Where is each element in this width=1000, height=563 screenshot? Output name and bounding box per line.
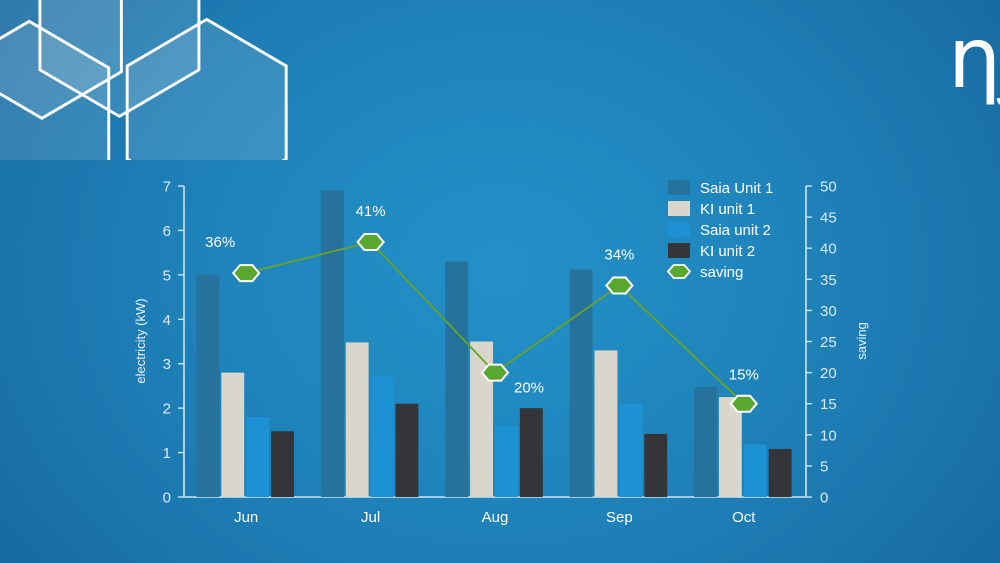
left-tick-label: 5 [163,267,171,284]
bar [271,431,294,497]
left-tick-label: 2 [163,401,171,418]
bar [346,342,369,497]
left-tick-label: 3 [163,356,171,373]
bar [395,404,418,497]
right-tick-label: 40 [820,241,837,258]
right-tick-label: 20 [820,365,837,382]
right-tick-label: 25 [820,334,837,351]
bar [769,449,792,497]
data-label: 41% [356,203,386,220]
bar [445,262,468,497]
data-label: 20% [514,380,544,397]
combo-chart: 01234567 05101520253035404550 36%41%20%3… [0,0,1000,563]
legend-label: KI unit 2 [700,243,755,260]
bar [495,426,518,497]
saving-marker [731,396,757,412]
legend-swatch [668,243,690,258]
right-tick-label: 30 [820,303,837,320]
right-tick-label: 50 [820,179,837,196]
right-tick-label: 5 [820,458,828,475]
saving-marker [358,234,384,250]
saving-line-group [233,234,757,412]
right-tick-label: 45 [820,210,837,227]
data-label: 34% [604,247,634,264]
right-tick-label: 15 [820,396,837,413]
bar [520,408,543,497]
bar [221,373,244,497]
legend-swatch [668,265,690,278]
left-axis-title: electricity (kW) [133,298,148,383]
bar [619,404,642,497]
legend-swatch [668,222,690,237]
bar [246,417,269,497]
bar [694,387,717,497]
x-axis-label: Jul [361,509,380,526]
x-axis-label: Sep [606,509,633,526]
left-tick-label: 0 [163,490,171,507]
x-axis-month-labels: JunJulAugSepOct [234,509,756,526]
chart-legend: Saia Unit 1KI unit 1Saia unit 2KI unit 2… [668,180,773,281]
data-label: 15% [729,367,759,384]
left-tick-label: 7 [163,179,171,196]
left-tick-label: 4 [163,312,171,329]
data-label: 36% [205,234,235,251]
bar [644,434,667,497]
bar [595,350,618,497]
legend-label: Saia Unit 1 [700,180,773,197]
left-tick-label: 1 [163,445,171,462]
bar [321,190,344,497]
slide-canvas: η eta Smart 01234567 0510152025303540455… [0,0,1000,563]
bar [570,270,593,497]
right-tick-label: 10 [820,427,837,444]
legend-swatch [668,201,690,216]
bar [744,445,767,497]
left-axis-ticks: 01234567 [163,179,184,507]
saving-marker [233,265,259,281]
legend-label: saving [700,264,743,281]
x-axis-label: Jun [234,509,258,526]
x-axis-label: Aug [482,509,509,526]
right-tick-label: 0 [820,490,828,507]
legend-label: Saia unit 2 [700,222,771,239]
saving-marker [606,278,632,294]
right-tick-label: 35 [820,272,837,289]
x-axis-label: Oct [732,509,756,526]
left-tick-label: 6 [163,223,171,240]
right-axis-title: saving [854,322,869,360]
right-axis-ticks: 05101520253035404550 [806,179,837,507]
legend-swatch [668,180,690,195]
bar [371,376,394,497]
saving-marker [482,365,508,381]
bar [196,275,219,497]
legend-label: KI unit 1 [700,201,755,218]
